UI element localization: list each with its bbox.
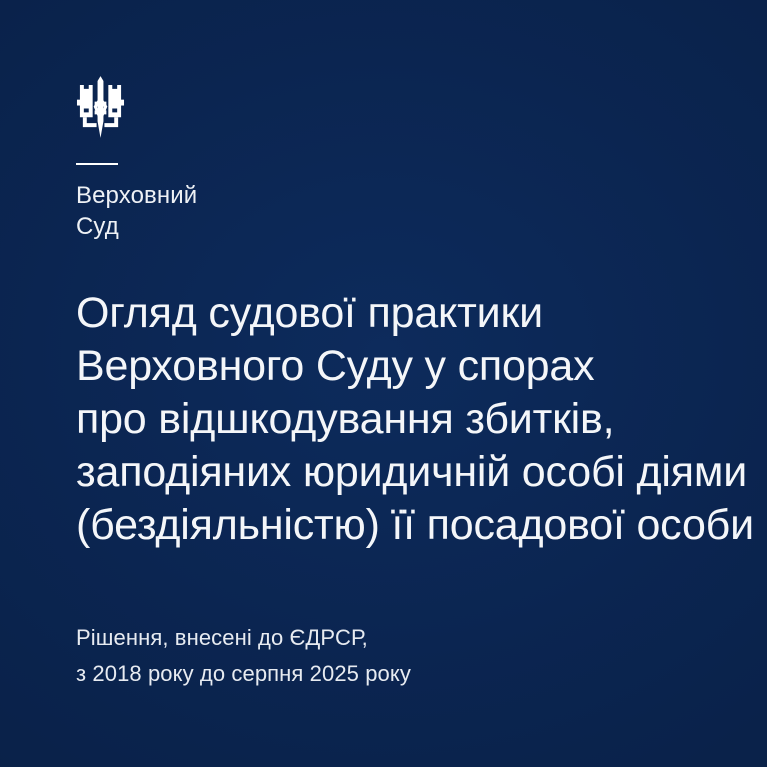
ukraine-trident-icon	[76, 76, 125, 138]
note-line-1: Рішення, внесені до ЄДРСР,	[76, 620, 636, 656]
brand-name: Верховний Суд	[76, 180, 496, 242]
cover-page: Верховний Суд Огляд судової практики Вер…	[0, 0, 767, 767]
title-line-1: Огляд судової практики	[76, 287, 696, 340]
title-line-2: Верховного Суду у спорах	[76, 340, 696, 393]
page-title: Огляд судової практики Верховного Суду у…	[76, 287, 696, 552]
title-line-4: заподіяних юридичній особі діями	[76, 446, 696, 499]
subtitle-note: Рішення, внесені до ЄДРСР, з 2018 року д…	[76, 620, 636, 692]
brand-divider	[76, 163, 118, 165]
brand-lockup: Верховний Суд	[76, 76, 496, 242]
note-line-2: з 2018 року до серпня 2025 року	[76, 656, 636, 692]
title-line-5: (бездіяльністю) її посадової особи	[76, 499, 696, 552]
title-line-3: про відшкодування збитків,	[76, 393, 696, 446]
